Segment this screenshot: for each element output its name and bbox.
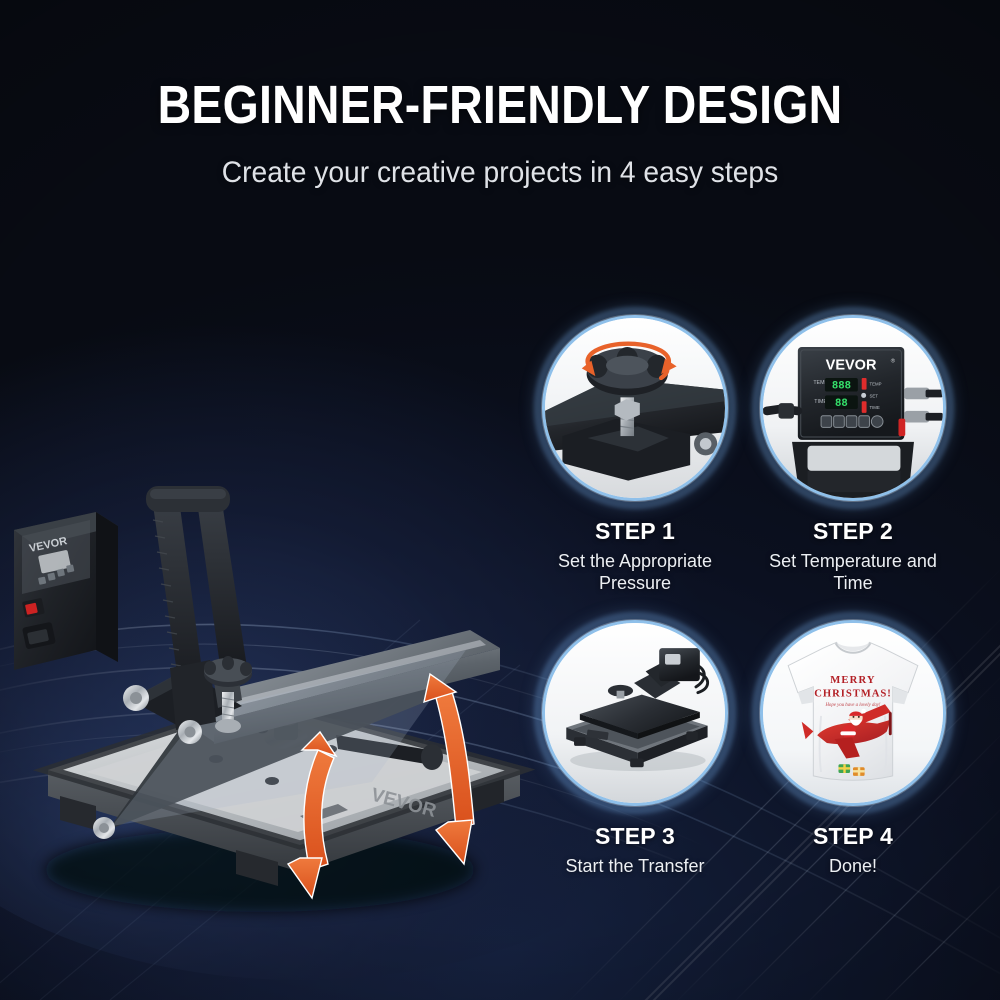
pressure-knob-icon — [545, 318, 725, 498]
step-3-desc: Start the Transfer — [530, 855, 740, 877]
step-2-circle: VEVOR ® TEMP 888 TEMP TIME 88 — [760, 315, 946, 501]
steps-grid: STEP 1 Set the Appropriate Pressure — [520, 315, 985, 895]
shirt-print-line1: MERRY — [830, 675, 876, 686]
step-2-title: STEP 2 — [748, 518, 958, 545]
step-3-circle — [542, 620, 728, 806]
step-4-circle: MERRY CHRISTMAS! Hope you have a lovely … — [760, 620, 946, 806]
closed-press-icon — [545, 623, 725, 803]
step-1-circle — [542, 315, 728, 501]
panel-time-value: 88 — [835, 398, 848, 410]
step-1-image-wrap — [542, 315, 728, 501]
step-card-1[interactable]: STEP 1 Set the Appropriate Pressure — [530, 315, 740, 595]
step-3-image-wrap — [542, 620, 728, 806]
printed-tshirt-icon: MERRY CHRISTMAS! Hope you have a lovely … — [763, 623, 943, 803]
step-card-2[interactable]: VEVOR ® TEMP 888 TEMP TIME 88 — [748, 315, 958, 595]
marketing-image-canvas: BEGINNER-FRIENDLY DESIGN Create your cre… — [0, 0, 1000, 1000]
page-subtitle: Create your creative projects in 4 easy … — [30, 156, 970, 190]
svg-text:TIME: TIME — [869, 405, 879, 410]
shirt-print-line2: CHRISTMAS! — [814, 689, 892, 700]
step-4-title: STEP 4 — [748, 823, 958, 850]
panel-buttons — [821, 416, 883, 428]
page-title: BEGINNER-FRIENDLY DESIGN — [70, 78, 930, 133]
step-2-image-wrap: VEVOR ® TEMP 888 TEMP TIME 88 — [760, 315, 946, 501]
shirt-print-line3: Hope you have a lovely day! — [824, 703, 880, 708]
control-panel-icon: VEVOR ® TEMP 888 TEMP TIME 88 — [763, 318, 943, 498]
control-box: VEVOR — [14, 512, 118, 670]
step-card-3[interactable]: STEP 3 Start the Transfer — [530, 620, 740, 877]
step-4-image-wrap: MERRY CHRISTMAS! Hope you have a lovely … — [760, 620, 946, 806]
step-1-title: STEP 1 — [530, 518, 740, 545]
panel-temp-value: 888 — [832, 381, 851, 393]
step-3-title: STEP 3 — [530, 823, 740, 850]
step-1-desc: Set the Appropriate Pressure — [530, 550, 740, 595]
step-4-desc: Done! — [748, 855, 958, 877]
panel-brand: VEVOR — [826, 357, 877, 373]
product-hero-image: VEVOR — [0, 230, 540, 930]
svg-text:®: ® — [891, 358, 896, 365]
svg-text:TEMP: TEMP — [869, 382, 881, 387]
svg-text:SET: SET — [869, 393, 878, 398]
step-2-desc: Set Temperature and Time — [748, 550, 958, 595]
step-card-4[interactable]: MERRY CHRISTMAS! Hope you have a lovely … — [748, 620, 958, 877]
